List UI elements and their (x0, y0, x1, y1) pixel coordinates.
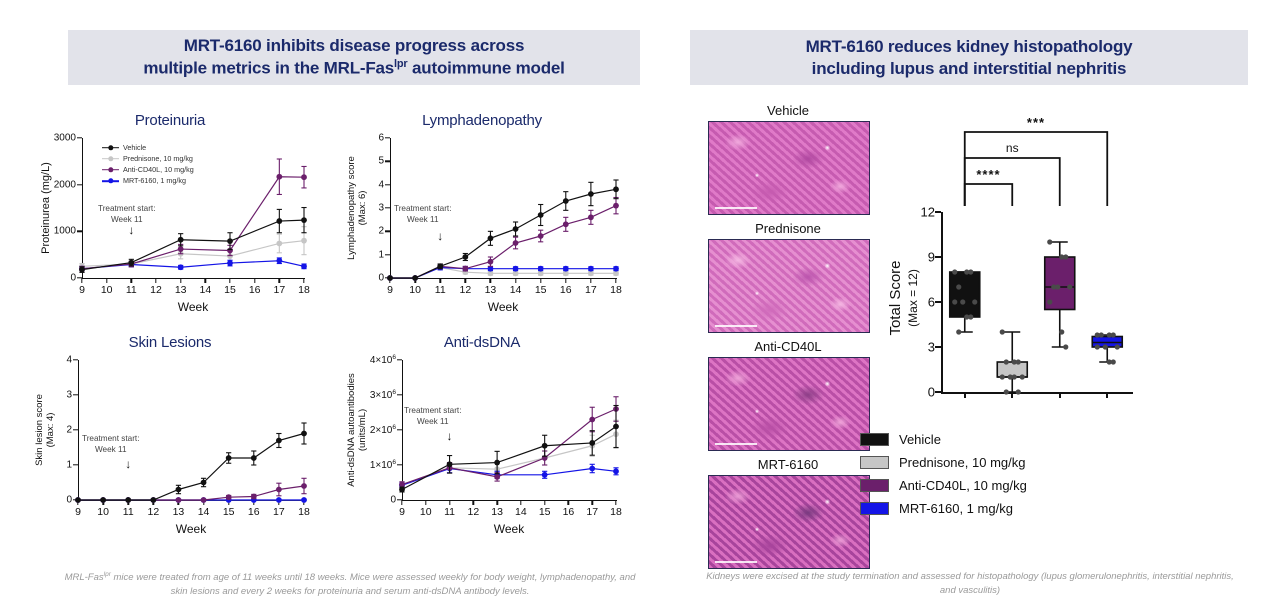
right-panel: MRT-6160 reduces kidney histopathology i… (660, 0, 1280, 614)
right-title-line1: MRT-6160 reduces kidney histopathology (806, 37, 1133, 56)
treatment-start-note: Treatment start:Week 11 (98, 204, 155, 225)
legend-swatch (102, 155, 119, 162)
legend-swatch (102, 166, 119, 173)
histology-label-anti-cd40l: Anti-CD40L (708, 339, 868, 354)
left-title-line1: MRT-6160 inhibits disease progress acros… (184, 36, 524, 55)
chart-skin-lesions: Skin Lesions012349101112131415161718Week… (20, 334, 320, 534)
treatment-note-line1: Treatment start: (82, 434, 139, 443)
treatment-note-line2: Week 11 (95, 445, 127, 454)
treatment-start-arrow-icon: ↓ (447, 430, 453, 442)
treatment-note-line1: Treatment start: (404, 406, 461, 415)
histology-label-vehicle: Vehicle (708, 103, 868, 118)
legend-item: Anti-CD40L, 10 mg/kg (860, 474, 1027, 497)
left-footnote-superscript: lpr (104, 571, 111, 578)
histology-image-anti-cd40l (708, 357, 870, 451)
treatment-note-line2: Week 11 (407, 215, 439, 224)
x-tick-mark (1011, 392, 1013, 398)
legend-label: Prednisone, 10 mg/kg (123, 153, 193, 164)
chart-anti-dsdna: Anti-dsDNA01×1062×1063×1064×106910111213… (332, 334, 632, 534)
series-layer-anti-dsdna (332, 334, 632, 534)
significance-label: *** (1027, 115, 1045, 130)
x-tick-mark (1059, 392, 1061, 398)
box-plot-legend: VehiclePrednisone, 10 mg/kgAnti-CD40L, 1… (860, 428, 1027, 520)
chart-total-score: 036912Total Score(Max = 12)****ns*** (885, 150, 1185, 410)
histology-label-mrt-6160: MRT-6160 (708, 457, 868, 472)
legend-swatch (102, 144, 119, 151)
box-layer (885, 150, 1185, 410)
legend-item: Anti-CD40L, 10 mg/kg (102, 164, 194, 175)
treatment-start-note: Treatment start:Week 11 (404, 406, 461, 427)
histology-image-mrt-6160 (708, 475, 870, 569)
legend-item: MRT-6160, 1 mg/kg (102, 175, 194, 186)
x-tick-mark (964, 392, 966, 398)
right-panel-footnote: Kidneys were excised at the study termin… (700, 570, 1240, 598)
legend-item: Prednisone, 10 mg/kg (102, 153, 194, 164)
histology-image-prednisone (708, 239, 870, 333)
treatment-start-note: Treatment start:Week 11 (82, 434, 139, 455)
treatment-start-arrow-icon: ↓ (437, 230, 443, 242)
significance-label: **** (976, 167, 1000, 182)
legend-swatch (860, 479, 889, 492)
scale-bar (715, 325, 757, 327)
scale-bar (715, 443, 757, 445)
treatment-note-line2: Week 11 (417, 417, 449, 426)
scale-bar (715, 561, 757, 563)
treatment-start-arrow-icon: ↓ (125, 458, 131, 470)
right-panel-title: MRT-6160 reduces kidney histopathology i… (690, 30, 1248, 85)
legend-label: Anti-CD40L, 10 mg/kg (123, 164, 194, 175)
legend-label: Prednisone, 10 mg/kg (899, 455, 1025, 470)
legend-label: Vehicle (899, 432, 941, 447)
treatment-note-line1: Treatment start: (394, 204, 451, 213)
left-panel-footnote: MRL-Faslpr mice were treated from age of… (60, 570, 640, 599)
histology-label-prednisone: Prednisone (708, 221, 868, 236)
legend-swatch (860, 502, 889, 515)
significance-label: ns (1006, 141, 1019, 155)
legend-item: Vehicle (102, 142, 194, 153)
x-tick-mark (1106, 392, 1108, 398)
legend-item: MRT-6160, 1 mg/kg (860, 497, 1027, 520)
left-footnote-pre: MRL-Fas (65, 572, 104, 583)
chart-legend-proteinuria: VehiclePrednisone, 10 mg/kgAnti-CD40L, 1… (102, 142, 194, 187)
left-panel: MRT-6160 inhibits disease progress acros… (0, 0, 660, 614)
chart-lymphadenopathy: Lymphadenopathy0123456910111213141516171… (332, 112, 632, 312)
legend-item: Vehicle (860, 428, 1027, 451)
legend-item: Prednisone, 10 mg/kg (860, 451, 1027, 474)
left-panel-title: MRT-6160 inhibits disease progress acros… (68, 30, 640, 85)
treatment-start-note: Treatment start:Week 11 (394, 204, 451, 225)
legend-label: Anti-CD40L, 10 mg/kg (899, 478, 1027, 493)
treatment-note-line2: Week 11 (111, 215, 143, 224)
legend-swatch (860, 456, 889, 469)
chart-proteinuria: Proteinuria01000200030009101112131415161… (20, 112, 320, 312)
treatment-note-line1: Treatment start: (98, 204, 155, 213)
left-footnote-post: mice were treated from age of 11 weeks u… (111, 572, 537, 583)
treatment-start-arrow-icon: ↓ (128, 224, 134, 236)
left-title-superscript: lpr (394, 58, 407, 70)
right-footnote-line1: Kidneys were excised at the study termin… (706, 571, 1067, 582)
left-title-line2-pre: multiple metrics in the MRL-Fas (143, 59, 394, 78)
scale-bar (715, 207, 757, 209)
legend-swatch (102, 178, 119, 185)
series-layer-skin-lesions (20, 334, 320, 534)
legend-label: Vehicle (123, 142, 146, 153)
right-title-line2: including lupus and interstitial nephrit… (812, 59, 1127, 78)
legend-swatch (860, 433, 889, 446)
histology-image-vehicle (708, 121, 870, 215)
left-title-line2-post: autoimmune model (408, 59, 565, 78)
legend-label: MRT-6160, 1 mg/kg (899, 501, 1013, 516)
series-layer-lymphadenopathy (332, 112, 632, 312)
legend-label: MRT-6160, 1 mg/kg (123, 175, 186, 186)
